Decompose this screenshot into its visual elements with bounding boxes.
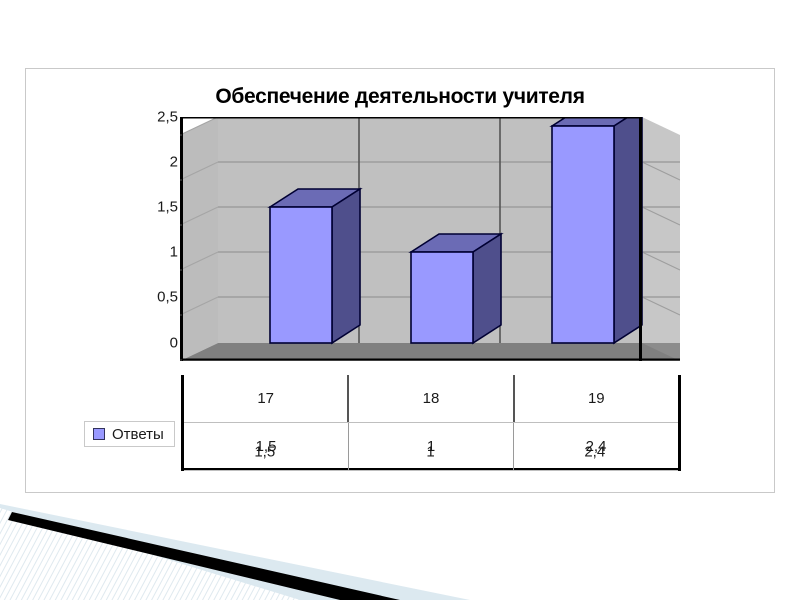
legend-series-label: Ответы bbox=[112, 426, 164, 443]
legend-color-swatch bbox=[93, 428, 105, 440]
data-table-cell: 17 bbox=[184, 375, 349, 422]
bar-side-face bbox=[473, 234, 501, 343]
y-tick-label: 2,5 bbox=[157, 109, 178, 126]
data-table-cell: 19 bbox=[515, 375, 678, 422]
plot-area[interactable] bbox=[180, 117, 680, 377]
y-tick-label: 0,5 bbox=[157, 289, 178, 306]
chart-title: Обеспечение деятельности учителя bbox=[26, 85, 774, 109]
y-tick-label: 1 bbox=[170, 244, 178, 261]
y-tick-label: 2 bbox=[170, 154, 178, 171]
right-wall bbox=[642, 117, 680, 343]
y-tick-label: 1,5 bbox=[157, 199, 178, 216]
data-table-cell: 2,4 2,4 bbox=[514, 423, 678, 470]
bar-18[interactable] bbox=[411, 234, 501, 343]
data-table-cell: 1 1 bbox=[349, 423, 514, 470]
plot-svg bbox=[180, 117, 680, 377]
slide-corner-graphic bbox=[0, 490, 800, 600]
data-table-row-values: 1,5 1,5 1 1 2,4 2,4 bbox=[184, 423, 678, 471]
data-table[interactable]: 17 18 19 1,5 1,5 1 1 2,4 2,4 bbox=[181, 375, 681, 471]
chart-legend[interactable]: Ответы bbox=[84, 421, 175, 447]
data-table-cell: 1,5 1,5 bbox=[184, 423, 349, 470]
data-table-row-categories: 17 18 19 bbox=[184, 375, 678, 423]
bar-front-face bbox=[552, 126, 614, 343]
bar-17[interactable] bbox=[270, 189, 360, 343]
chart-card[interactable]: Обеспечение деятельности учителя 2,5 2 1… bbox=[25, 68, 775, 493]
y-tick-label: 0 bbox=[170, 335, 178, 352]
data-table-value: 1,5 bbox=[256, 438, 277, 455]
bar-19[interactable] bbox=[552, 117, 642, 343]
data-table-value: 2,4 bbox=[586, 438, 607, 455]
left-wall bbox=[180, 117, 218, 361]
y-axis-labels: 2,5 2 1,5 1 0,5 0 bbox=[122, 117, 178, 377]
bar-front-face bbox=[270, 207, 332, 343]
data-table-value: 1 bbox=[427, 438, 435, 455]
data-table-cell: 18 bbox=[349, 375, 514, 422]
bar-side-face bbox=[614, 117, 642, 343]
bar-front-face bbox=[411, 252, 473, 343]
floor bbox=[180, 343, 680, 361]
slide-canvas: Обеспечение деятельности учителя 2,5 2 1… bbox=[0, 0, 800, 600]
bar-side-face bbox=[332, 189, 360, 343]
